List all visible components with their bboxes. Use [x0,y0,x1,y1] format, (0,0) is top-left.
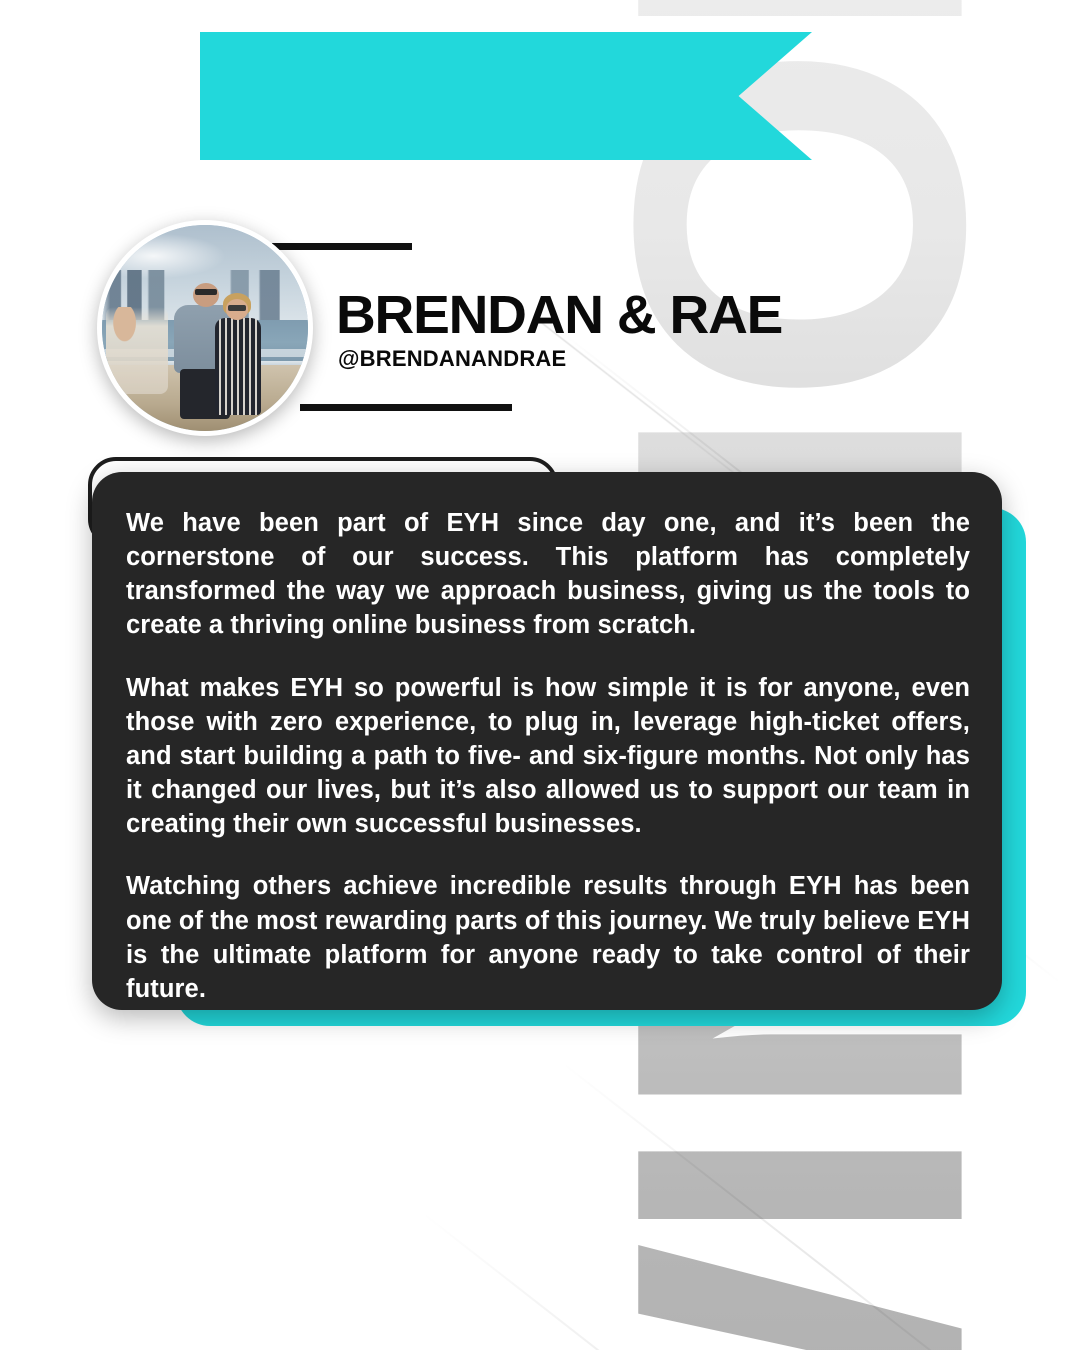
header-banner [200,32,812,160]
avatar-photo-woman-body [215,318,260,415]
avatar-photo-woman-sunglasses [228,305,247,310]
header-rule-bottom [300,404,512,411]
avatar [97,220,313,436]
profile-name: BRENDAN & RAE [336,288,782,342]
diagonal-crease-bottom-left [420,1210,973,1350]
avatar-photo-man-sunglasses [195,289,218,295]
diagonal-crease-bottom [560,1060,1065,1350]
testimonial-paragraph: What makes EYH so powerful is how simple… [126,671,970,842]
testimonial-graphic: WINMOM BRENDAN & RAE @BRENDANANDRAE We h… [0,0,1080,1350]
testimonial-card: We have been part of EYH since day one, … [92,472,1002,1010]
testimonial-paragraph: Watching others achieve incredible resul… [126,869,970,1040]
testimonial-paragraph: We have been part of EYH since day one, … [126,506,970,643]
profile-handle: @BRENDANANDRAE [338,348,566,370]
avatar-photo-background-people [106,307,168,394]
